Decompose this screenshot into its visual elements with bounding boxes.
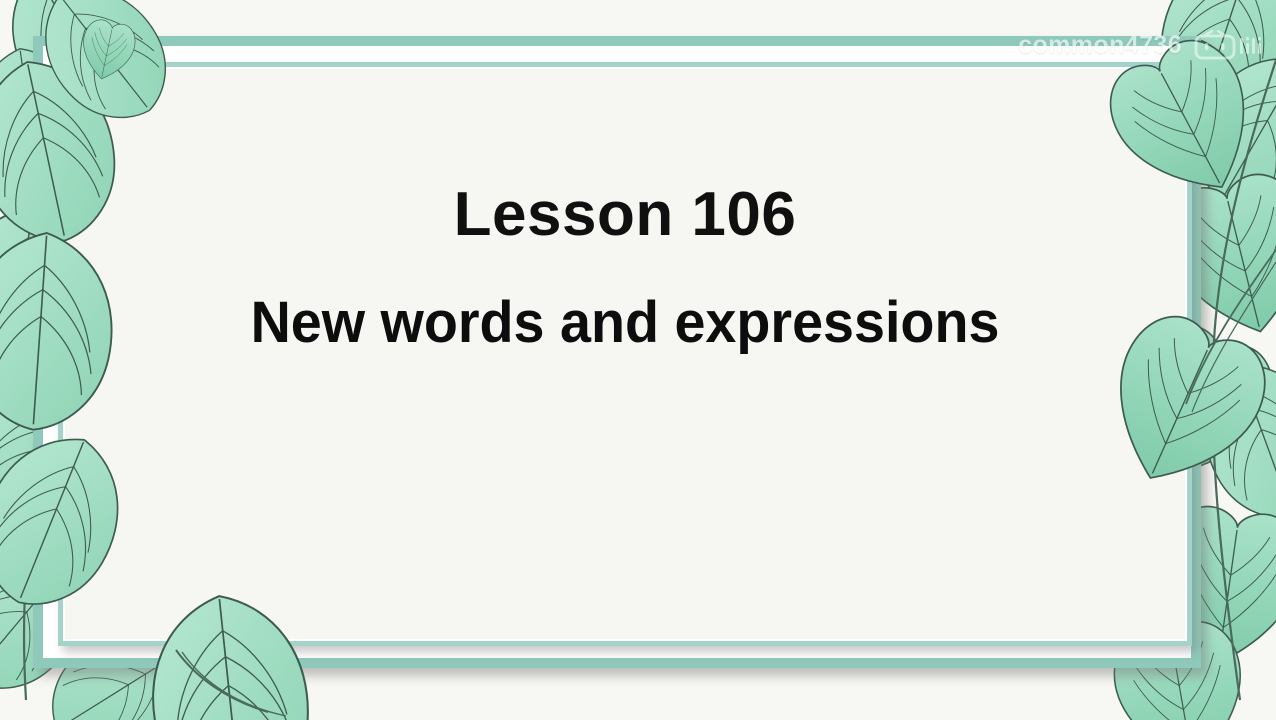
bilibili-logo-icon [1192, 30, 1266, 60]
slide-title: Lesson 106 [454, 182, 797, 247]
slide-content: Lesson 106 New words and expressions [58, 62, 1192, 646]
slide-subtitle: New words and expressions [251, 293, 1000, 354]
slide-canvas: Lesson 106 New words and expressions [0, 0, 1276, 720]
